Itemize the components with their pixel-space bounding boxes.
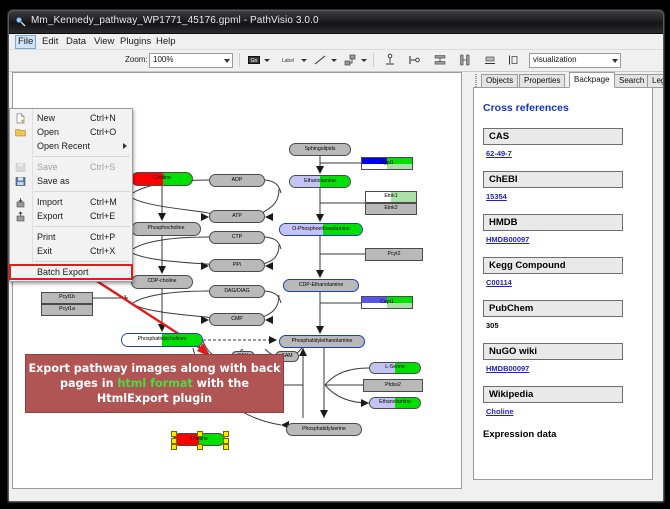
- same-width-icon[interactable]: [483, 53, 497, 67]
- submenu-arrow-icon: [123, 143, 127, 149]
- export-icon: [15, 211, 26, 222]
- menu-help[interactable]: Help: [153, 36, 179, 48]
- pathvisio-app-icon: [15, 16, 27, 28]
- pathway-node-label: Pcyt1a: [59, 307, 75, 312]
- tab-legend[interactable]: Legend: [647, 74, 664, 88]
- pathway-node-pcyt1b[interactable]: Pcyt1b: [41, 292, 93, 304]
- file-menu-item-export[interactable]: ExportCtrl+E: [10, 209, 132, 223]
- pathway-node-adp[interactable]: ADP: [209, 174, 265, 187]
- pathway-node-pcyt1a[interactable]: Pcyt1a: [41, 304, 93, 316]
- pathway-node-label: Etnk2: [384, 206, 397, 211]
- pathway-node-dag-diag[interactable]: DAG/DIAG: [209, 285, 265, 298]
- label-icon[interactable]: Label: [277, 53, 299, 67]
- file-menu-item-open[interactable]: OpenCtrl+O: [10, 125, 132, 139]
- interaction-icon[interactable]: [343, 53, 357, 67]
- chevron-down-icon: [612, 59, 618, 63]
- selection-handle[interactable]: [197, 444, 203, 450]
- cross-reference-link[interactable]: Choline: [486, 407, 643, 416]
- annotation-callout: Export pathway images along with back pa…: [25, 354, 284, 413]
- align-top-icon[interactable]: [383, 53, 397, 67]
- menu-item-label: Save: [37, 160, 58, 174]
- file-menu-item-save-as[interactable]: Save as: [10, 174, 132, 188]
- pathway-node-phosphatidylserine[interactable]: Phosphatidylserine: [286, 423, 362, 436]
- pathway-node-etnk1[interactable]: Etnk1: [365, 191, 417, 203]
- menu-separator: [34, 226, 130, 227]
- pathway-node-label: Etnk1: [384, 194, 397, 199]
- cross-reference-header: NuGO wiki: [483, 343, 623, 360]
- datanode-icon[interactable]: Gn: [247, 53, 261, 67]
- menu-item-label: Exit: [37, 244, 52, 258]
- pathway-node-o-phosphoethanolamine[interactable]: O-Phosphoethanolamine: [279, 223, 363, 236]
- callout-line1: Export pathway images along with back: [28, 362, 280, 375]
- pathway-node-label: CDP-choline: [147, 279, 176, 284]
- pathway-node-phosphatidylethanolamine[interactable]: Phosphatidylethanolamine: [279, 335, 365, 348]
- file-menu-item-new[interactable]: NewCtrl+N: [10, 111, 132, 125]
- distribute-vertical-icon[interactable]: [433, 53, 447, 67]
- toolbar[interactable]: Zoom: 100% Gn Label: [9, 50, 663, 72]
- pathway-node-label: Choline: [153, 176, 171, 181]
- pathway-node-label: Sgpl1: [380, 161, 393, 166]
- menu-view[interactable]: View: [91, 36, 117, 48]
- new-file-icon: [15, 113, 26, 124]
- cross-reference-link[interactable]: HMDB00097: [486, 235, 643, 244]
- menu-item-label: Print: [37, 230, 56, 244]
- pathway-node-label: CDP-Ethanolamine: [299, 283, 343, 288]
- save-as-icon: [15, 176, 26, 187]
- menu-item-label: Open Recent: [37, 139, 90, 153]
- selection-handle[interactable]: [197, 431, 203, 437]
- menu-separator: [34, 191, 130, 192]
- menu-item-label: Save as: [37, 174, 70, 188]
- pathway-node-ppi[interactable]: PPi: [209, 259, 265, 272]
- cross-reference-header: CAS: [483, 128, 623, 145]
- pathway-node-label: Phosphocholine: [148, 226, 185, 231]
- pathway-node-label: CTP: [232, 235, 242, 240]
- cross-reference-link[interactable]: HMDB00097: [486, 364, 643, 373]
- menu-item-label: Import: [37, 195, 63, 209]
- callout-line3: HtmlExport plugin: [97, 392, 212, 405]
- pathway-node-label: ADP: [232, 178, 243, 183]
- pathway-node-label: Pcyt1b: [59, 295, 75, 300]
- same-height-icon[interactable]: [507, 53, 521, 67]
- pathway-node-label: Phosphatidylethanolamine: [292, 339, 353, 344]
- pathway-node-label: Pcyt2: [388, 252, 401, 257]
- datanode-dropdown-icon[interactable]: [264, 59, 270, 62]
- pathway-node-atp[interactable]: ATP: [209, 210, 265, 223]
- selection-handle[interactable]: [171, 438, 177, 444]
- cross-reference-value: 305: [486, 321, 643, 330]
- window-title: Mm_Kennedy_pathway_WP1771_45176.gpml - P…: [31, 15, 319, 26]
- selection-handle[interactable]: [223, 438, 229, 444]
- cross-reference-link[interactable]: C00114: [486, 278, 643, 287]
- distribute-horizontal-icon[interactable]: [458, 53, 472, 67]
- pathway-node-label: Ethanolamine: [379, 400, 411, 405]
- open-folder-icon: [15, 127, 26, 138]
- pathway-node-pcyt2[interactable]: Pcyt2: [365, 248, 423, 261]
- panel-grip-icon[interactable]: [475, 74, 479, 85]
- backpage-panel[interactable]: Cross references CAS62-49-7ChEBI15354HMD…: [473, 87, 653, 480]
- menu-file[interactable]: File: [15, 35, 36, 49]
- file-menu-items: NewCtrl+NOpenCtrl+OOpen RecentSaveCtrl+S…: [10, 111, 132, 279]
- pathway-node-cmp[interactable]: CMP: [209, 313, 265, 326]
- pathway-node-label: Phosphatidylserine: [302, 427, 346, 432]
- selection-handle[interactable]: [171, 444, 177, 450]
- menu-item-label: New: [37, 111, 55, 125]
- menu-item-shortcut: Ctrl+X: [90, 244, 115, 258]
- pathway-node-choline[interactable]: Choline: [131, 172, 193, 186]
- pathway-node-l-serine[interactable]: L-Serine: [369, 362, 421, 374]
- pathway-node-label: Cept1: [380, 300, 394, 305]
- menu-item-label: Export: [37, 209, 63, 223]
- cross-reference-link[interactable]: 15354: [486, 192, 643, 201]
- pathway-node-label: PPi: [233, 263, 241, 268]
- callout-line2-highlight: html format: [117, 377, 192, 390]
- toolbar-separator-2: [373, 53, 374, 67]
- pathway-node-label: ATP: [232, 214, 242, 219]
- pathway-node-label: CMP: [231, 317, 243, 322]
- file-menu-item-print[interactable]: PrintCtrl+P: [10, 230, 132, 244]
- pathvisio-window: Mm_Kennedy_pathway_WP1771_45176.gpml - P…: [8, 10, 664, 502]
- pathway-node-phosphatidylcholines[interactable]: Phosphatidylcholines: [121, 333, 203, 347]
- pathway-node-label: Choline: [190, 437, 208, 442]
- screenshot-root: Mm_Kennedy_pathway_WP1771_45176.gpml - P…: [0, 0, 670, 509]
- visualization-value: visualization: [533, 55, 577, 64]
- file-menu-item-save: SaveCtrl+S: [10, 160, 132, 174]
- file-menu-item-exit[interactable]: ExitCtrl+X: [10, 244, 132, 258]
- expression-data-heading: Expression data: [483, 429, 643, 440]
- pathway-node-label: Sphingolipids: [305, 147, 336, 152]
- pathway-node-sgpl1[interactable]: Sgpl1: [361, 157, 413, 170]
- selection-handle[interactable]: [223, 444, 229, 450]
- pathway-node-cdp-choline[interactable]: CDP-choline: [131, 275, 193, 289]
- tab-properties[interactable]: Properties: [519, 74, 565, 88]
- file-menu-dropdown[interactable]: NewCtrl+NOpenCtrl+OOpen RecentSaveCtrl+S…: [9, 108, 133, 282]
- pathway-node-phosphocholine[interactable]: Phosphocholine: [131, 222, 201, 236]
- menu-plugins[interactable]: Plugins: [117, 36, 154, 48]
- backpage-content: Cross references CAS62-49-7ChEBI15354HMD…: [474, 88, 652, 446]
- menu-separator: [34, 156, 130, 157]
- annotation-callout-text: Export pathway images along with back pa…: [28, 361, 280, 406]
- pathway-node-label: L-Serine: [385, 365, 405, 370]
- file-menu-item-open-recent[interactable]: Open Recent: [10, 139, 132, 153]
- file-menu-item-import[interactable]: ImportCtrl+M: [10, 195, 132, 209]
- svg-text:Label: Label: [282, 58, 294, 64]
- selection-handle[interactable]: [171, 431, 177, 437]
- svg-text:Gn: Gn: [251, 58, 258, 64]
- pathway-node-ctp[interactable]: CTP: [209, 231, 265, 244]
- chevron-down-icon: [224, 59, 230, 63]
- main-body: CholinePhosphocholineCDP-cholinePhosphat…: [9, 72, 663, 502]
- pathway-node-label: Phosphatidylcholines: [138, 337, 187, 342]
- pathway-node-etnk2[interactable]: Etnk2: [365, 203, 417, 215]
- menu-item-label: Open: [37, 125, 59, 139]
- cross-reference-header: ChEBI: [483, 171, 623, 188]
- label-dropdown-icon[interactable]: [301, 59, 307, 62]
- interaction-dropdown-icon[interactable]: [361, 59, 367, 62]
- window-title-bar: Mm_Kennedy_pathway_WP1771_45176.gpml - P…: [9, 11, 663, 34]
- cross-reference-header: PubChem: [483, 300, 623, 317]
- zoom-value: 100%: [153, 55, 173, 64]
- menu-separator: [34, 261, 130, 262]
- pathway-node-label: Ptdss2: [385, 383, 401, 388]
- pathway-node-cdp-ethanolamine[interactable]: CDP-Ethanolamine: [283, 279, 359, 292]
- callout-line2-a: pages in: [60, 377, 117, 390]
- menu-data[interactable]: Data: [63, 36, 89, 48]
- pathway-node-ethanolamine-1[interactable]: Ethanolamine: [289, 175, 351, 188]
- tab-search[interactable]: Search: [614, 74, 649, 88]
- cross-reference-link[interactable]: 62-49-7: [486, 149, 643, 158]
- backpage-title: Cross references: [483, 102, 643, 114]
- menu-item-shortcut: Ctrl+M: [90, 195, 117, 209]
- pathway-node-label: Ethanolamine: [304, 179, 336, 184]
- pathway-node-ethanolamine-2[interactable]: Ethanolamine: [369, 397, 421, 409]
- import-icon: [15, 197, 26, 208]
- callout-line2-b: with the: [193, 377, 249, 390]
- line-dropdown-icon[interactable]: [331, 59, 337, 62]
- align-left-icon[interactable]: [407, 53, 421, 67]
- menu-item-shortcut: Ctrl+P: [90, 230, 115, 244]
- side-panel: Objects Properties Backpage Search Legen…: [464, 72, 660, 487]
- pathway-node-label: O-Phosphoethanolamine: [292, 227, 349, 232]
- menu-item-shortcut: Ctrl+N: [90, 111, 116, 125]
- menu-item-shortcut: Ctrl+S: [90, 160, 115, 174]
- save-disk-icon: [15, 162, 26, 173]
- pathway-node-sphingolipids[interactable]: Sphingolipids: [289, 143, 351, 156]
- line-icon[interactable]: [313, 53, 327, 67]
- visualization-combo[interactable]: visualization: [529, 53, 621, 68]
- tab-backpage[interactable]: Backpage: [569, 72, 615, 88]
- file-menu-item-batch-export[interactable]: Batch Export: [10, 265, 132, 279]
- menu-item-label: Batch Export: [37, 265, 89, 279]
- menu-item-shortcut: Ctrl+E: [90, 209, 115, 223]
- zoom-label: Zoom:: [125, 55, 148, 64]
- menu-edit[interactable]: Edit: [39, 36, 61, 48]
- pathway-node-label: DAG/DIAG: [224, 289, 249, 294]
- menu-bar[interactable]: File Edit Data View Plugins Help: [9, 34, 663, 50]
- tab-objects[interactable]: Objects: [481, 74, 518, 88]
- toolbar-separator-1: [239, 53, 240, 67]
- menu-item-shortcut: Ctrl+O: [90, 125, 116, 139]
- cross-reference-header: HMDB: [483, 214, 623, 231]
- cross-reference-list: CAS62-49-7ChEBI15354HMDBHMDB00097Kegg Co…: [483, 128, 643, 416]
- selection-handle[interactable]: [223, 431, 229, 437]
- cross-reference-header: Kegg Compound: [483, 257, 623, 274]
- side-panel-tabs[interactable]: Objects Properties Backpage Search Legen…: [473, 72, 660, 87]
- zoom-combo[interactable]: 100%: [149, 53, 233, 68]
- cross-reference-header: Wikipedia: [483, 386, 623, 403]
- pathway-node-cept1[interactable]: Cept1: [361, 296, 413, 309]
- pathway-node-ptdss2[interactable]: Ptdss2: [363, 379, 423, 392]
